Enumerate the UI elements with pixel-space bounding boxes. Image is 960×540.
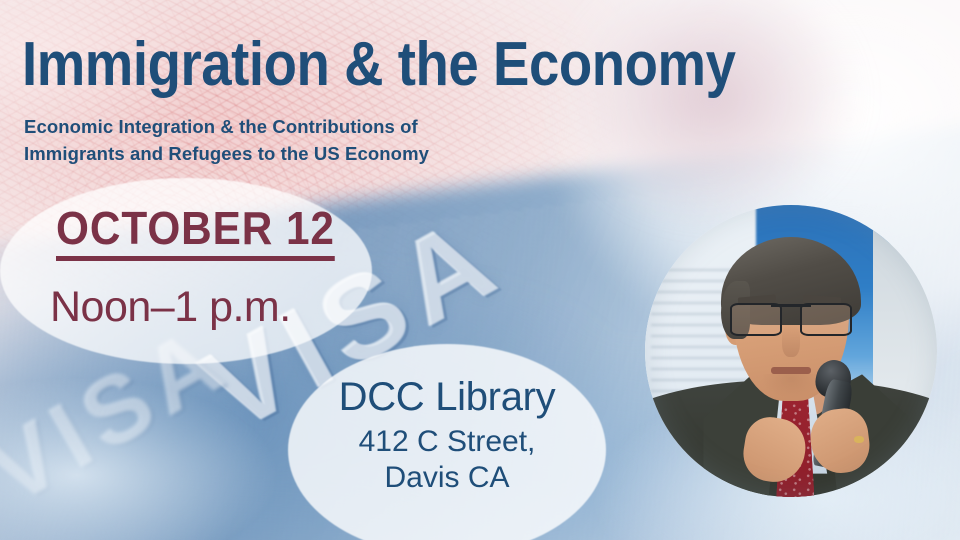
event-poster: VISA VISA Immigration & the Economy Econ…	[0, 0, 960, 540]
subtitle-line-2: Immigrants and Refugees to the US Econom…	[24, 140, 429, 167]
subtitle-line-1: Economic Integration & the Contributions…	[24, 113, 429, 140]
page-subtitle: Economic Integration & the Contributions…	[24, 113, 429, 167]
photo-vignette	[645, 205, 937, 497]
venue-name: DCC Library	[288, 375, 606, 420]
event-venue: DCC Library 412 C Street, Davis CA	[288, 375, 606, 497]
event-time: Noon–1 p.m.	[50, 283, 291, 332]
page-title: Immigration & the Economy	[22, 34, 736, 96]
venue-street: 412 C Street,	[288, 424, 606, 461]
event-date: OCTOBER 12	[56, 205, 335, 261]
speaker-photo	[645, 205, 937, 497]
venue-city: Davis CA	[288, 460, 606, 497]
